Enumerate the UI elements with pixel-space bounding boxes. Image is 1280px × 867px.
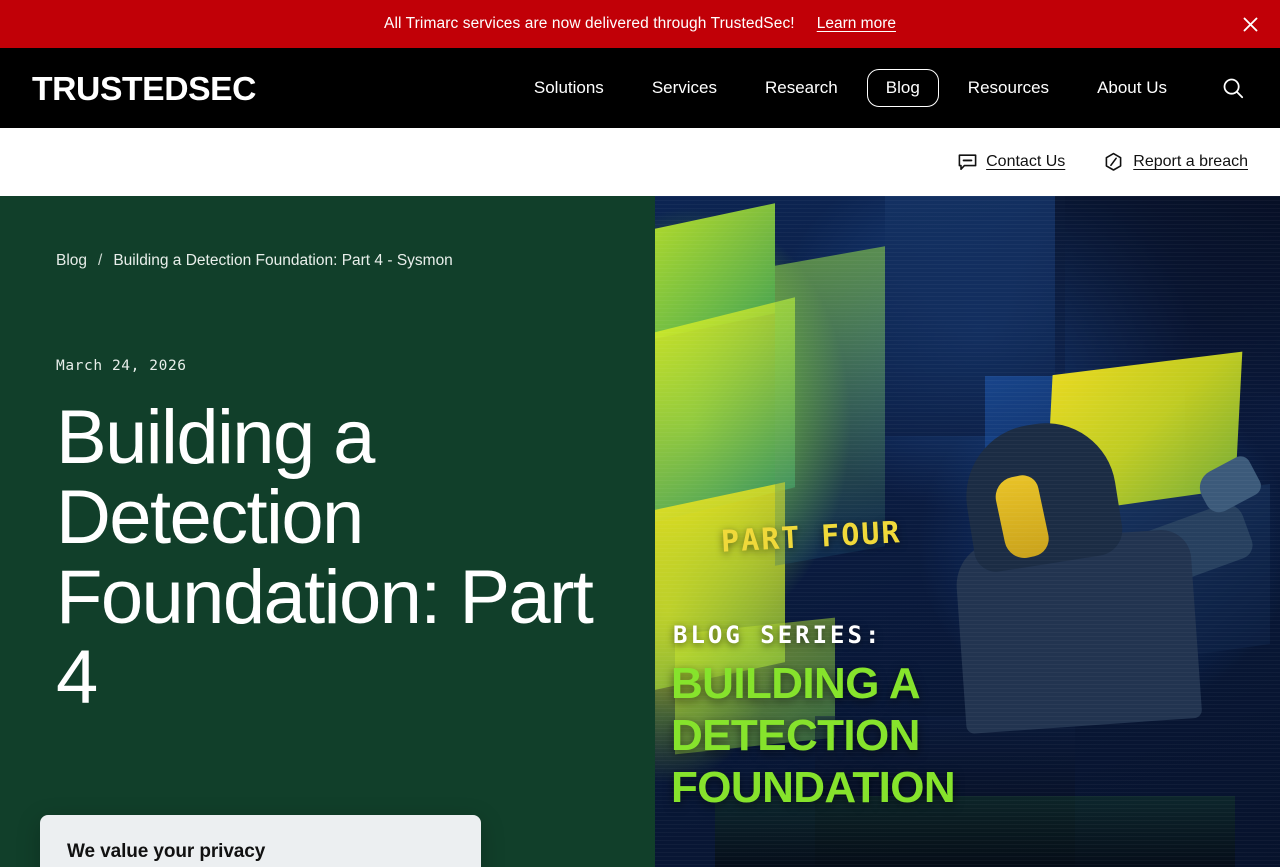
- artwork-headline: BUILDING A DETECTION FOUNDATION: [671, 658, 955, 814]
- breadcrumb-separator: /: [98, 252, 102, 270]
- cookie-consent-dialog: We value your privacy We use cookies to …: [40, 815, 481, 867]
- page-title: Building a Detection Foundation: Part 4: [56, 398, 615, 718]
- artwork-headline-line-1: BUILDING A: [671, 658, 955, 710]
- artwork-headline-line-2: DETECTION: [671, 710, 955, 762]
- nav-item-about-us[interactable]: About Us: [1078, 69, 1186, 107]
- post-date: March 24, 2026: [56, 358, 615, 374]
- utility-bar: Contact Us Report a breach: [0, 128, 1280, 196]
- artwork-part-label: PART FOUR: [720, 515, 902, 559]
- search-icon[interactable]: [1218, 73, 1248, 103]
- trustedsec-logo[interactable]: TRUSTEDSEC: [32, 72, 256, 105]
- announcement-banner: All Trimarc services are now delivered t…: [0, 0, 1280, 48]
- report-a-breach-link[interactable]: Report a breach: [1103, 152, 1248, 173]
- artwork-text-overlay: PART FOUR BLOG SERIES: BUILDING A DETECT…: [655, 196, 1280, 867]
- chat-bubble-icon: [958, 153, 977, 172]
- page-title-line-1: Building a: [56, 395, 374, 480]
- nav-item-solutions[interactable]: Solutions: [515, 69, 623, 107]
- artwork-series-label: BLOG SERIES:: [673, 621, 882, 649]
- breadcrumb-blog-link[interactable]: Blog: [56, 252, 87, 270]
- contact-us-link[interactable]: Contact Us: [958, 153, 1065, 172]
- hero-content: Blog / Building a Detection Foundation: …: [0, 196, 655, 867]
- nav-item-research[interactable]: Research: [746, 69, 857, 107]
- hexagon-slash-icon: [1103, 152, 1124, 173]
- site-header: TRUSTEDSEC Solutions Services Research B…: [0, 48, 1280, 128]
- artwork-headline-line-3: FOUNDATION: [671, 762, 955, 814]
- main-navigation: Solutions Services Research Blog Resourc…: [515, 69, 1248, 107]
- hero-artwork-image: PART FOUR BLOG SERIES: BUILDING A DETECT…: [655, 196, 1280, 867]
- page-title-line-2: Detection: [56, 475, 363, 560]
- hero-section: Blog / Building a Detection Foundation: …: [0, 196, 1280, 867]
- announcement-learn-more-link[interactable]: Learn more: [817, 15, 896, 33]
- contact-us-label: Contact Us: [986, 153, 1065, 171]
- announcement-text: All Trimarc services are now delivered t…: [384, 15, 795, 33]
- page-title-line-3: Foundation: Part 4: [56, 555, 592, 720]
- breadcrumb-current: Building a Detection Foundation: Part 4 …: [113, 252, 452, 270]
- close-icon[interactable]: [1236, 10, 1264, 38]
- breadcrumb: Blog / Building a Detection Foundation: …: [56, 252, 615, 270]
- nav-item-services[interactable]: Services: [633, 69, 736, 107]
- nav-item-blog[interactable]: Blog: [867, 69, 939, 107]
- nav-item-resources[interactable]: Resources: [949, 69, 1068, 107]
- report-a-breach-label: Report a breach: [1133, 153, 1248, 171]
- cookie-dialog-title: We value your privacy: [67, 841, 453, 863]
